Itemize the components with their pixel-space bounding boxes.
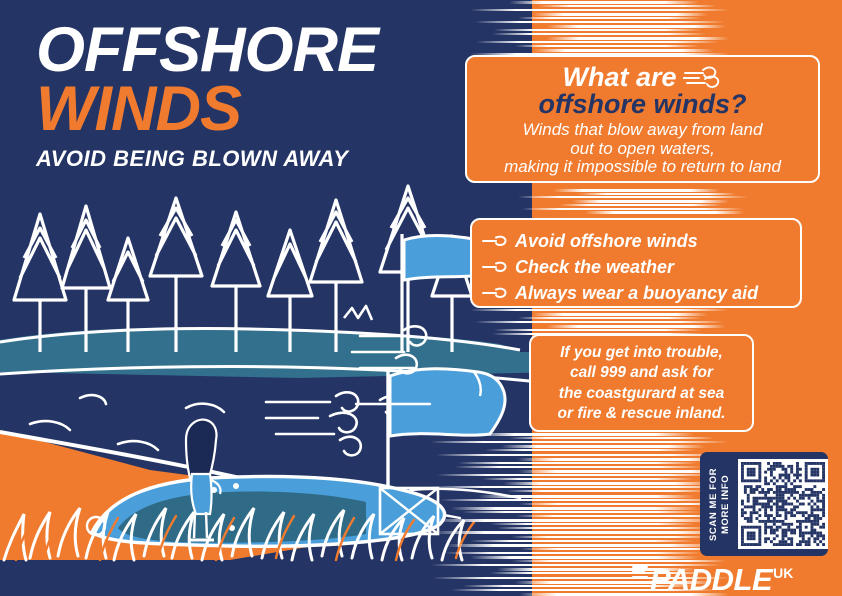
- advice-item-label: Avoid offshore winds: [515, 228, 698, 254]
- what-body-line-3: making it impossible to return to land: [467, 158, 818, 176]
- advice-box: Avoid offshore winds Check the weather: [470, 218, 802, 308]
- what-are-offshore-winds-box: What are offshore winds? Winds that blow…: [465, 55, 820, 183]
- headline-subtitle: AVOID BEING BLOWN AWAY: [36, 146, 456, 172]
- wind-icon: [683, 65, 723, 89]
- what-question-line-1: What are: [467, 63, 818, 91]
- headline-block: OFFSHORE WINDS AVOID BEING BLOWN AWAY: [36, 22, 456, 172]
- headline-line-2: WINDS: [36, 80, 456, 140]
- paddle-uk-logo[interactable]: PADDLE UK: [650, 562, 793, 592]
- emergency-line-1: If you get into trouble,: [531, 343, 752, 363]
- qr-caption: SCAN ME FOR MORE INFO: [707, 459, 733, 549]
- poster-canvas: OFFSHORE WINDS AVOID BEING BLOWN AWAY Wh…: [0, 0, 842, 596]
- advice-list: Avoid offshore winds Check the weather: [472, 220, 800, 306]
- logo-suffix: UK: [773, 565, 793, 581]
- emergency-line-3: the coastgurard at sea: [531, 384, 752, 404]
- wind-swirl-bullet-icon: [482, 260, 508, 274]
- list-item: Avoid offshore winds: [482, 228, 800, 254]
- wind-swirl-bullet-icon: [482, 234, 508, 248]
- list-item: Always wear a buoyancy aid: [482, 280, 800, 306]
- what-question-line-2: offshore winds?: [467, 91, 818, 118]
- what-body-line-1: Winds that blow away from land: [467, 121, 818, 139]
- what-question-text: What are: [562, 63, 676, 91]
- what-body-text: Winds that blow away from land out to op…: [467, 121, 818, 176]
- advice-item-label: Check the weather: [515, 254, 674, 280]
- what-body-line-2: out to open waters,: [467, 140, 818, 158]
- emergency-text: If you get into trouble, call 999 and as…: [531, 336, 752, 425]
- wind-swirl-bullet-icon: [482, 286, 508, 300]
- emergency-line-2: call 999 and ask for: [531, 363, 752, 383]
- list-item: Check the weather: [482, 254, 800, 280]
- logo-speed-lines: [632, 566, 648, 586]
- qr-block[interactable]: SCAN ME FOR MORE INFO: [700, 452, 828, 556]
- headline-line-1: OFFSHORE: [36, 22, 456, 80]
- emergency-line-4: or fire & rescue inland.: [531, 404, 752, 424]
- logo-wordmark: PADDLE: [650, 562, 772, 596]
- qr-code-icon[interactable]: [738, 459, 828, 549]
- advice-item-label: Always wear a buoyancy aid: [515, 280, 758, 306]
- emergency-box: If you get into trouble, call 999 and as…: [529, 334, 754, 432]
